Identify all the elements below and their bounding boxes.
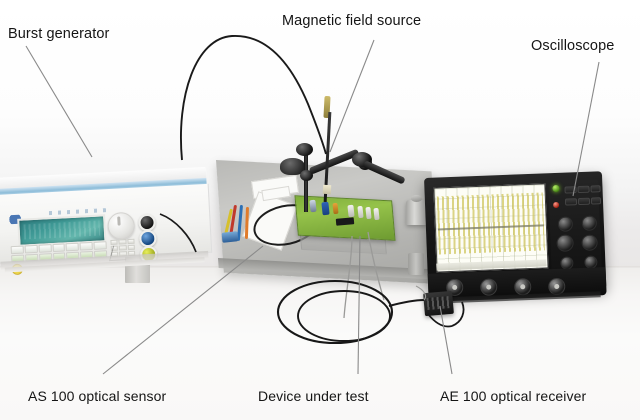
label-magnetic-field-source: Magnetic field source (282, 13, 421, 29)
leader-oscilloscope (573, 62, 599, 196)
figure-root: Burst generator Magnetic field source Os… (0, 0, 640, 420)
leader-magnetic-source (330, 40, 374, 152)
label-ae100-optical-receiver: AE 100 optical receiver (440, 388, 586, 404)
label-as100-optical-sensor: AS 100 optical sensor (28, 388, 166, 404)
label-oscilloscope: Oscilloscope (531, 38, 614, 54)
leader-as100-sensor (103, 246, 263, 374)
label-burst-generator: Burst generator (8, 26, 109, 42)
leader-burst-generator (26, 46, 92, 157)
label-device-under-test: Device under test (258, 388, 369, 404)
leader-lines-layer (0, 0, 640, 420)
leader-ae100-receiver (440, 306, 452, 374)
setup-photograph (0, 0, 640, 420)
leader-device-under-test (358, 236, 360, 374)
